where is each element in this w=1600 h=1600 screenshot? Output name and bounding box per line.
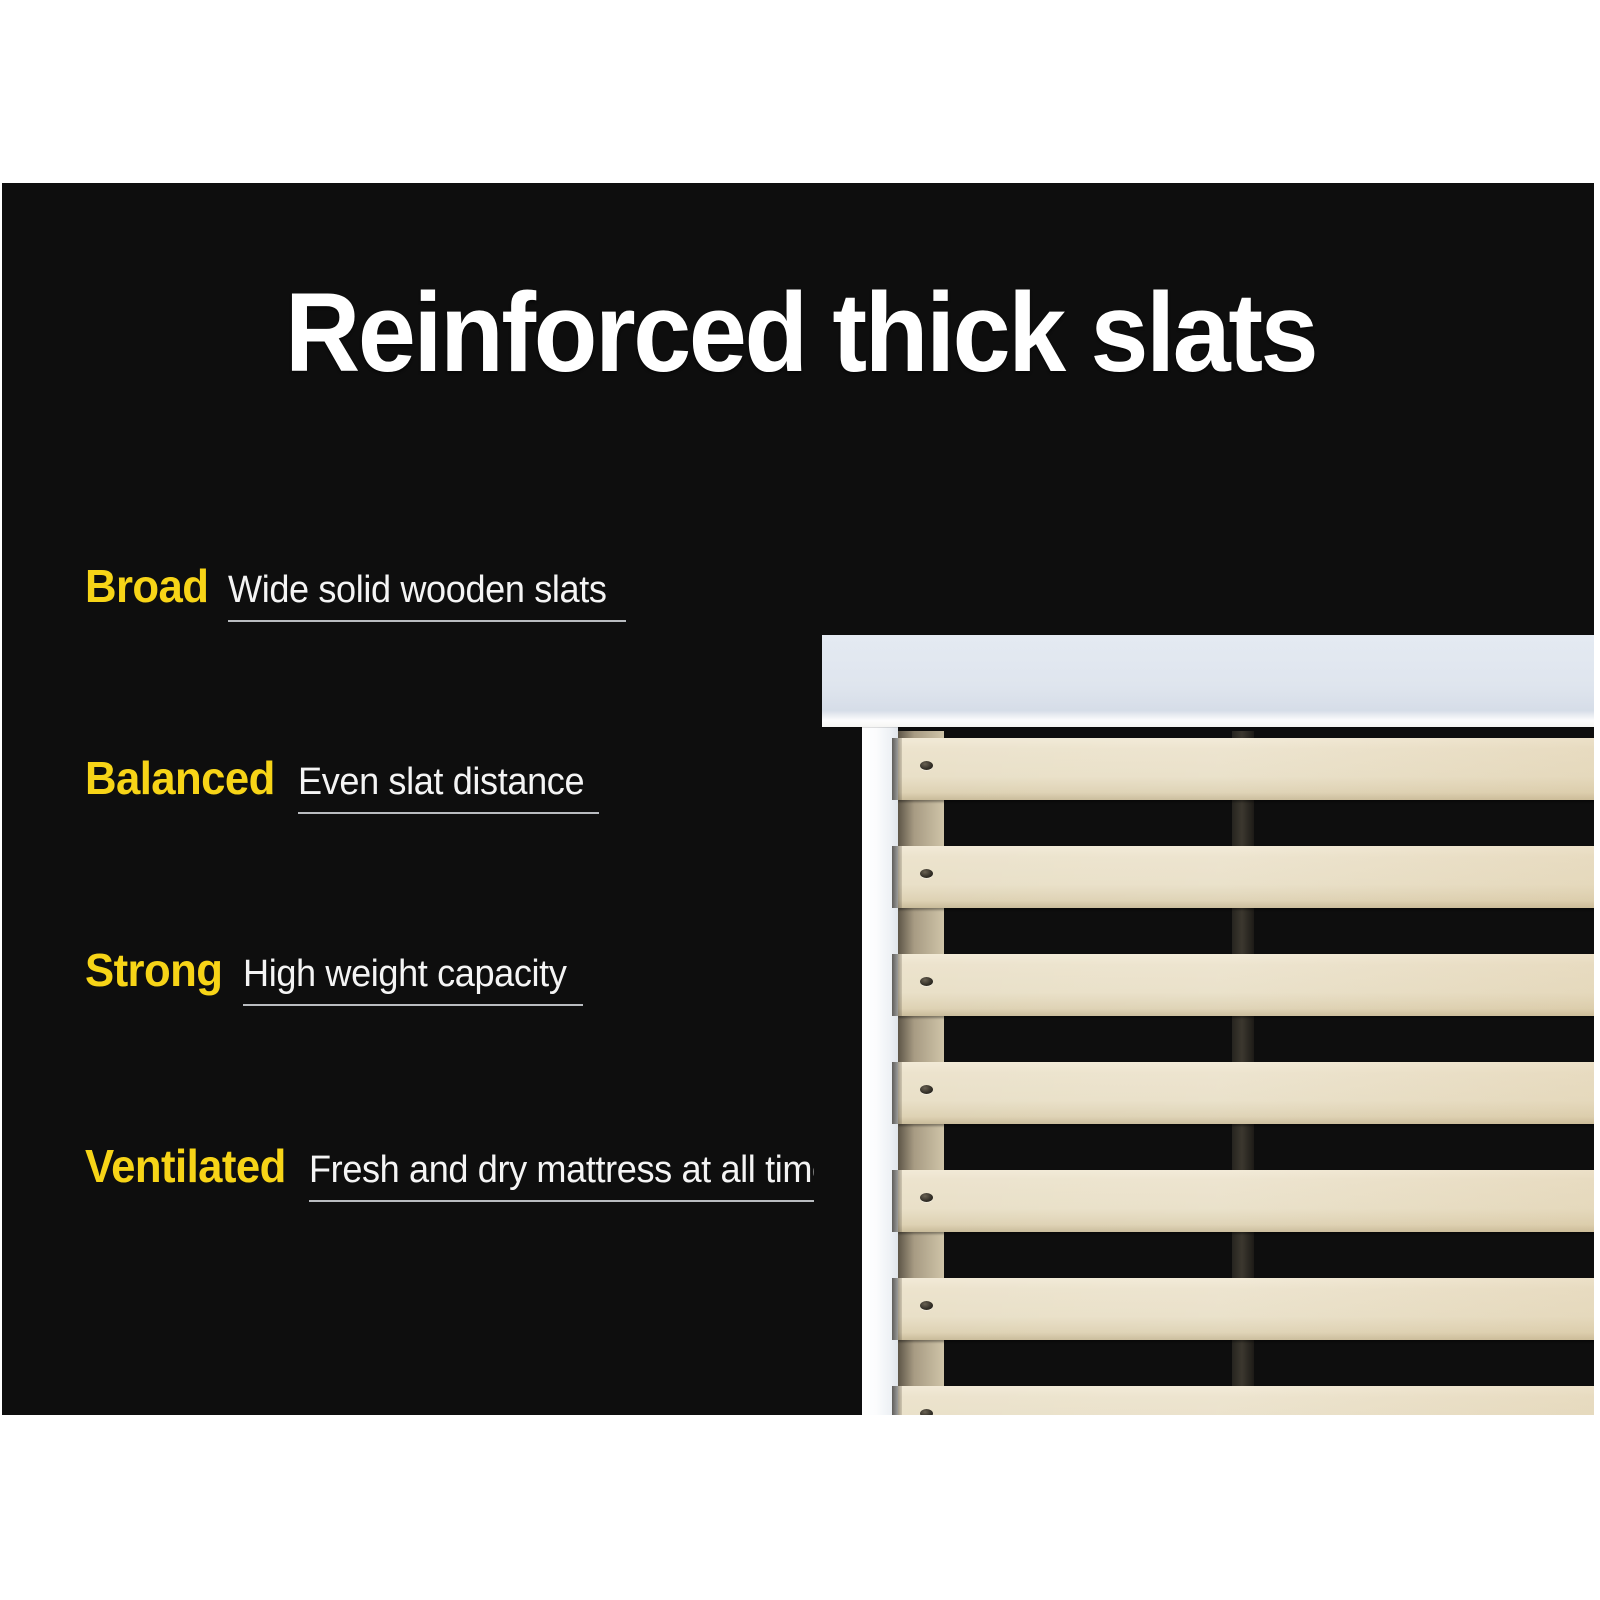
slat-end-shadow (892, 954, 902, 1016)
slat-end-shadow (892, 738, 902, 800)
feature-term: Balanced (85, 755, 275, 801)
feature-description: Even slat distance (298, 763, 584, 801)
screw-icon (920, 1409, 933, 1415)
slat-group (814, 635, 1594, 1415)
feature-description: Fresh and dry mattress at all times (309, 1151, 849, 1189)
feature-item-broad: Broad Wide solid wooden slats (85, 563, 626, 622)
bed-top-rail (822, 635, 1594, 727)
feature-description-underline: High weight capacity (243, 955, 584, 1006)
product-feature-banner: Reinforced thick slats Broad Wide solid … (0, 0, 1600, 1600)
feature-term: Strong (85, 947, 222, 993)
screw-icon (920, 1193, 933, 1202)
screw-icon (920, 1085, 933, 1094)
wooden-slat (898, 1170, 1594, 1232)
slat-end-shadow (892, 846, 902, 908)
feature-item-ventilated: Ventilated Fresh and dry mattress at all… (85, 1143, 878, 1202)
feature-description: High weight capacity (243, 955, 566, 993)
page-title: Reinforced thick slats (285, 277, 1308, 389)
wooden-slat (898, 738, 1594, 800)
slat-end-shadow (892, 1386, 902, 1415)
screw-icon (920, 869, 933, 878)
feature-description-underline: Wide solid wooden slats (228, 571, 626, 622)
wooden-slat (898, 1278, 1594, 1340)
feature-term: Broad (85, 563, 208, 609)
slat-end-shadow (892, 1062, 902, 1124)
slat-end-shadow (892, 1278, 902, 1340)
screw-icon (920, 761, 933, 770)
wooden-slat (898, 954, 1594, 1016)
feature-term: Ventilated (85, 1143, 286, 1189)
slat-end-shadow (892, 1170, 902, 1232)
feature-description-underline: Fresh and dry mattress at all times (309, 1151, 878, 1202)
feature-description: Wide solid wooden slats (228, 571, 607, 609)
black-feature-panel: Reinforced thick slats Broad Wide solid … (2, 183, 1594, 1415)
screw-icon (920, 977, 933, 986)
product-photo-bed-slats (814, 635, 1594, 1415)
screw-icon (920, 1301, 933, 1310)
feature-item-strong: Strong High weight capacity (85, 947, 583, 1006)
wooden-slat (898, 846, 1594, 908)
wooden-slat (898, 1062, 1594, 1124)
feature-item-balanced: Balanced Even slat distance (85, 755, 599, 814)
feature-description-underline: Even slat distance (298, 763, 599, 814)
wooden-slat (898, 1386, 1594, 1415)
